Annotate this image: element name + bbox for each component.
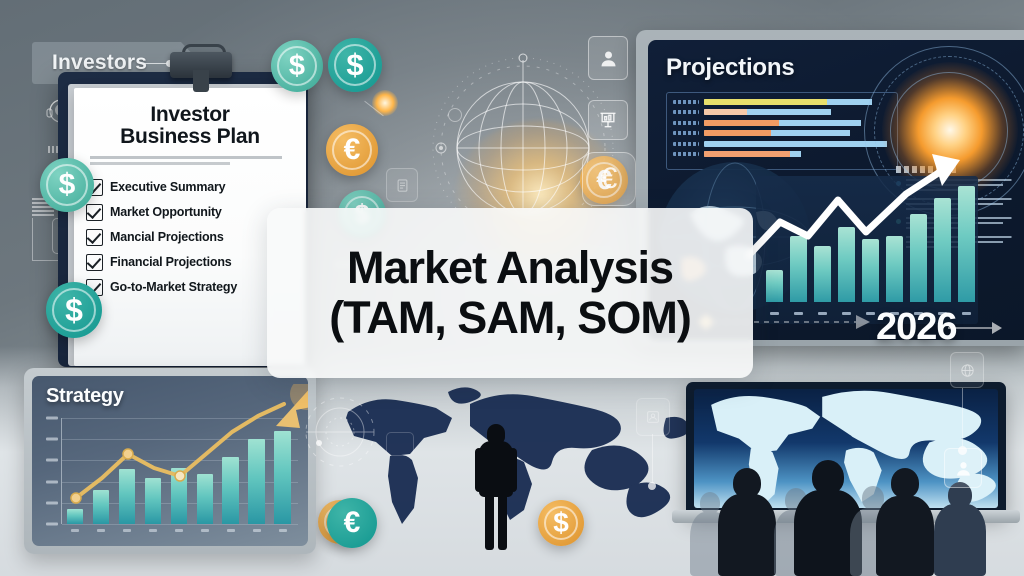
euro-coin: € [327,498,377,548]
bar-segment-highlight [704,120,779,126]
audience-silhouette [934,482,986,576]
bar-segment-highlight [704,99,827,105]
silhouette-body [479,441,513,497]
x-axis-tick-label [279,529,287,532]
silhouette-head [700,492,720,514]
coin-ring [52,288,96,332]
silhouette-shoulders [718,494,776,576]
checklist-item[interactable]: Market Opportunity [86,203,294,221]
strategy-line-markers [62,418,298,524]
bar-track [704,120,891,126]
coin-ring [544,506,578,540]
checklist-item[interactable]: Mancial Projections [86,228,294,246]
checkbox-checked-icon[interactable] [86,229,103,246]
coin-ring [277,46,317,86]
bar-track [704,130,891,136]
checklist-item[interactable]: Executive Summary [86,178,294,196]
silhouette-shoulders [934,504,986,576]
bar-segment-highlight [704,130,771,136]
checklist-item-label: Financial Projections [110,255,232,269]
checklist: Executive Summary Market Opportunity Man… [86,178,294,296]
bar-segment-highlight [704,109,747,115]
silhouette-leg [485,492,494,550]
x-axis-tick-label [201,529,209,532]
bar-category-label [673,110,699,114]
bar-category-label [673,121,699,125]
x-axis-tick-label [227,529,235,532]
globe-icon [950,352,984,388]
hud-circle [448,108,462,122]
dollar-coin: $ [328,38,382,92]
checklist-item-label: Mancial Projections [110,230,224,244]
bar-row [673,130,891,137]
audience-silhouette [876,468,934,576]
y-axis-tick-label [46,438,58,441]
silhouette-arm [475,448,483,492]
hud-radar-icon [300,392,380,472]
bar-category-label [673,142,699,146]
checklist-item[interactable]: Go-to-Market Strategy [86,278,294,296]
projections-title: Projections [666,54,795,82]
checklist-item-label: Go-to-Market Strategy [110,280,237,294]
silhouette-head [891,468,919,498]
presentation-chart-icon[interactable] [588,100,628,140]
bar-category-label [673,152,699,156]
title-line-1: Market Analysis [347,245,673,292]
clipboard-clip-neck [193,70,209,92]
x-axis-tick-label [253,529,261,532]
x-axis-tick-label [149,529,157,532]
bar-row [673,140,891,147]
growth-trend-arrow-icon [746,150,996,280]
strategy-title: Strategy [46,385,124,408]
document-title-line2: Business Plan [88,126,292,148]
x-axis-tick-label [71,529,79,532]
bar-row [673,109,891,116]
dollar-coin: $ [271,40,323,92]
hud-dot [648,482,656,490]
bar-track [704,109,891,115]
strategy-chart-plot [62,418,298,524]
coin-ring [46,164,88,206]
coin-ring [334,44,376,86]
hud-connector [962,388,963,446]
document-icon [386,168,418,202]
euro-coin: € [326,124,378,176]
hud-connector [652,434,653,482]
euro-icon[interactable]: € [582,152,636,206]
silhouette-leg [498,492,507,550]
y-axis-tick-label [46,523,58,526]
bar-category-label [673,131,699,135]
bar-category-label [673,100,699,104]
document-title: Investor Business Plan [88,104,292,149]
document-intro-text [90,156,290,168]
y-axis-tick-label [46,417,58,420]
title-card: Market Analysis (TAM, SAM, SOM) [267,208,753,378]
euro-glyph: € [601,162,618,196]
y-axis-tick-label [46,459,58,462]
bar-segment-base [704,141,887,147]
bar-track [704,99,891,105]
hud-connector [32,260,60,261]
x-axis-line [62,524,298,525]
silhouette-shoulders [876,496,934,576]
dollar-coin: $ [46,282,102,338]
dollar-coin: $ [538,500,584,546]
y-axis-tick-label [46,480,58,483]
slide-canvas: Investors Investor Business Plan [0,0,1024,576]
x-axis-tick-label [175,529,183,532]
id-card-icon [636,398,670,436]
chart-card-icon [386,432,414,456]
document-title-line1: Investor [88,104,292,126]
title-line-2: (TAM, SAM, SOM) [329,294,691,342]
checkbox-checked-icon[interactable] [86,204,103,221]
checklist-item-label: Market Opportunity [110,205,222,219]
strategy-panel[interactable]: Strategy [32,376,308,546]
silhouette-head [812,460,844,494]
bar-row [673,119,891,126]
spark-glow [372,90,398,116]
checklist-item[interactable]: Financial Projections [86,253,294,271]
coin-symbol: € [344,506,361,540]
dollar-coin: $ [40,158,94,212]
bar-row [673,98,891,105]
person-icon[interactable] [588,36,628,80]
hud-connector [32,218,33,260]
arrow-right-icon [948,318,1004,338]
audience-silhouette [718,468,776,576]
year-label: 2026 [876,306,957,349]
person-icon [944,448,982,488]
axis-tick [962,312,971,315]
y-axis-tick-label [46,501,58,504]
checkbox-checked-icon[interactable] [86,254,103,271]
businessman-silhouette [474,424,518,552]
coin-ring [332,130,372,170]
bar-track [704,141,891,147]
hud-dot [316,440,322,446]
x-axis-tick-label [97,529,105,532]
x-axis-tick-label [123,529,131,532]
silhouette-arm [509,448,517,492]
checklist-item-label: Executive Summary [110,180,225,194]
